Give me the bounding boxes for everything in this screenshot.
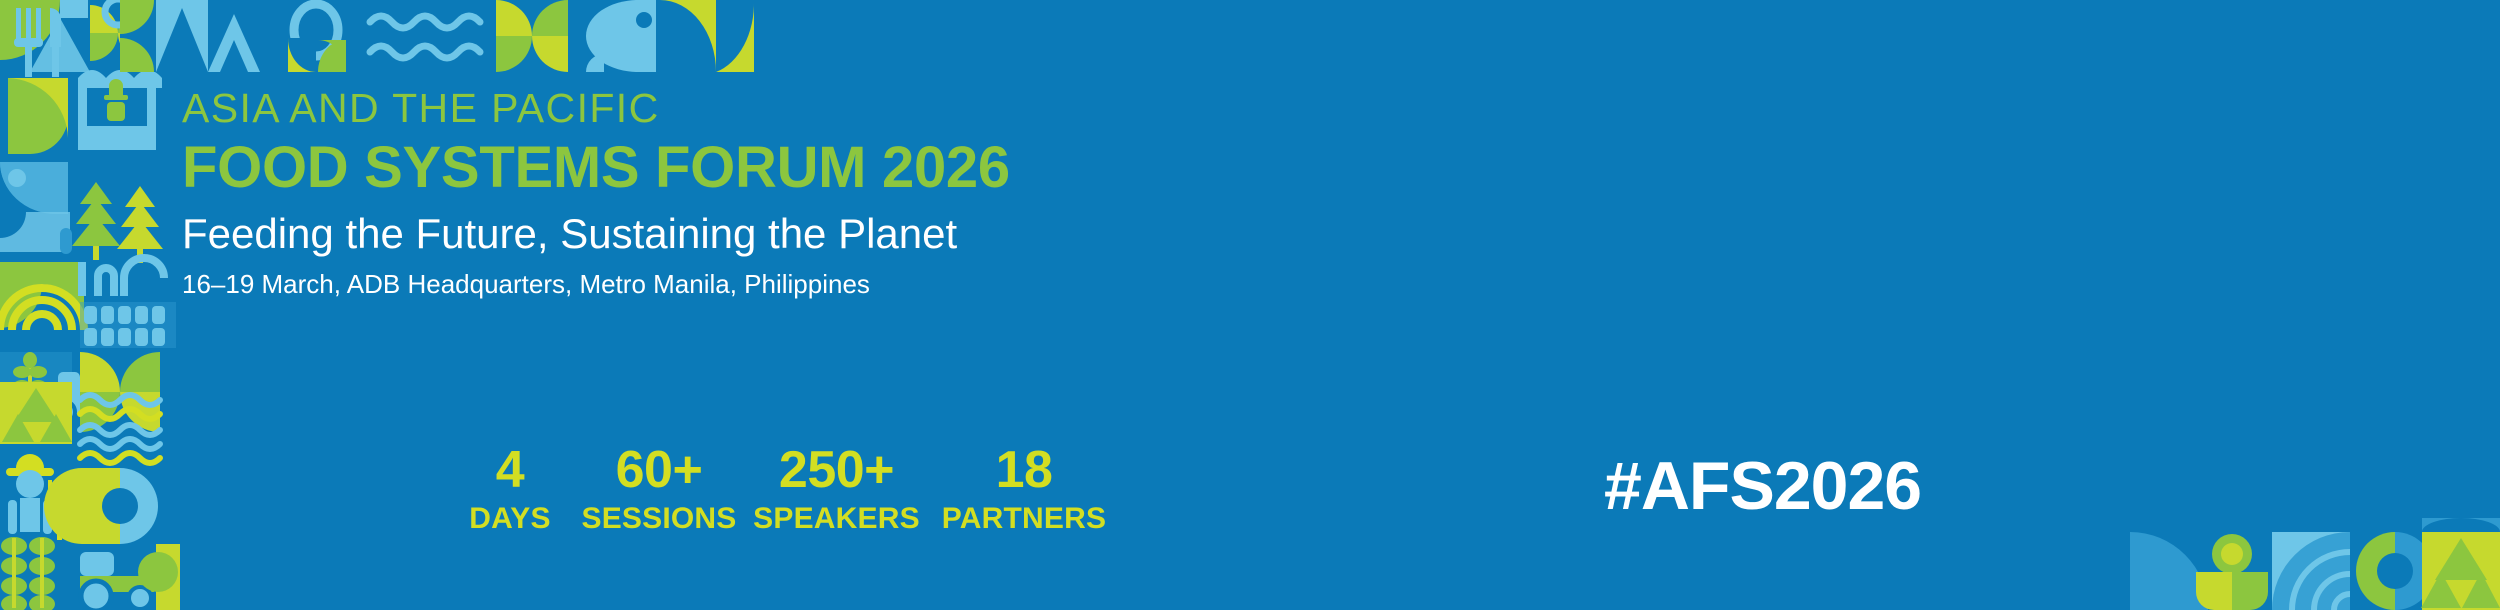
tagline-text: Feeding the Future, Sustaining the Plane… [182,210,1010,257]
stat-label: PARTNERS [929,504,1119,534]
decorative-pattern-left [0,0,180,610]
stat-label: DAYS [446,504,574,534]
stat-value: 4 [446,444,574,496]
ring-icon [44,468,158,544]
concentric-arc-icon [2272,532,2350,610]
stat-label: SPEAKERS [744,504,929,534]
event-banner: ASIA AND THE PACIFIC FOOD SYSTEMS FORUM … [0,0,2500,610]
stat-item: 60+ SESSIONS [574,444,744,534]
stat-item: 4 DAYS [446,444,574,534]
stat-item: 250+ SPEAKERS [744,444,929,534]
decorative-pattern-bottom-right [2130,518,2500,610]
eyebrow-text: ASIA AND THE PACIFIC [182,88,1010,129]
stat-value: 18 [929,444,1119,496]
stats-row: 4 DAYS 60+ SESSIONS 250+ SPEAKERS 18 PAR… [446,444,1119,534]
page-title: FOOD SYSTEMS FORUM 2026 [182,137,1010,200]
triangle-field-icon [0,382,72,444]
decorative-pattern-top [120,0,1100,72]
headline-block: ASIA AND THE PACIFIC FOOD SYSTEMS FORUM … [182,88,1010,300]
stat-value: 250+ [744,444,929,496]
stat-label: SESSIONS [574,504,744,534]
event-hashtag: #AFS2026 [1604,452,1921,520]
event-details: 16–19 March, ADB Headquarters, Metro Man… [182,269,1010,300]
seed-tray-icon [80,302,176,348]
stat-value: 60+ [574,444,744,496]
stat-item: 18 PARTNERS [929,444,1119,534]
